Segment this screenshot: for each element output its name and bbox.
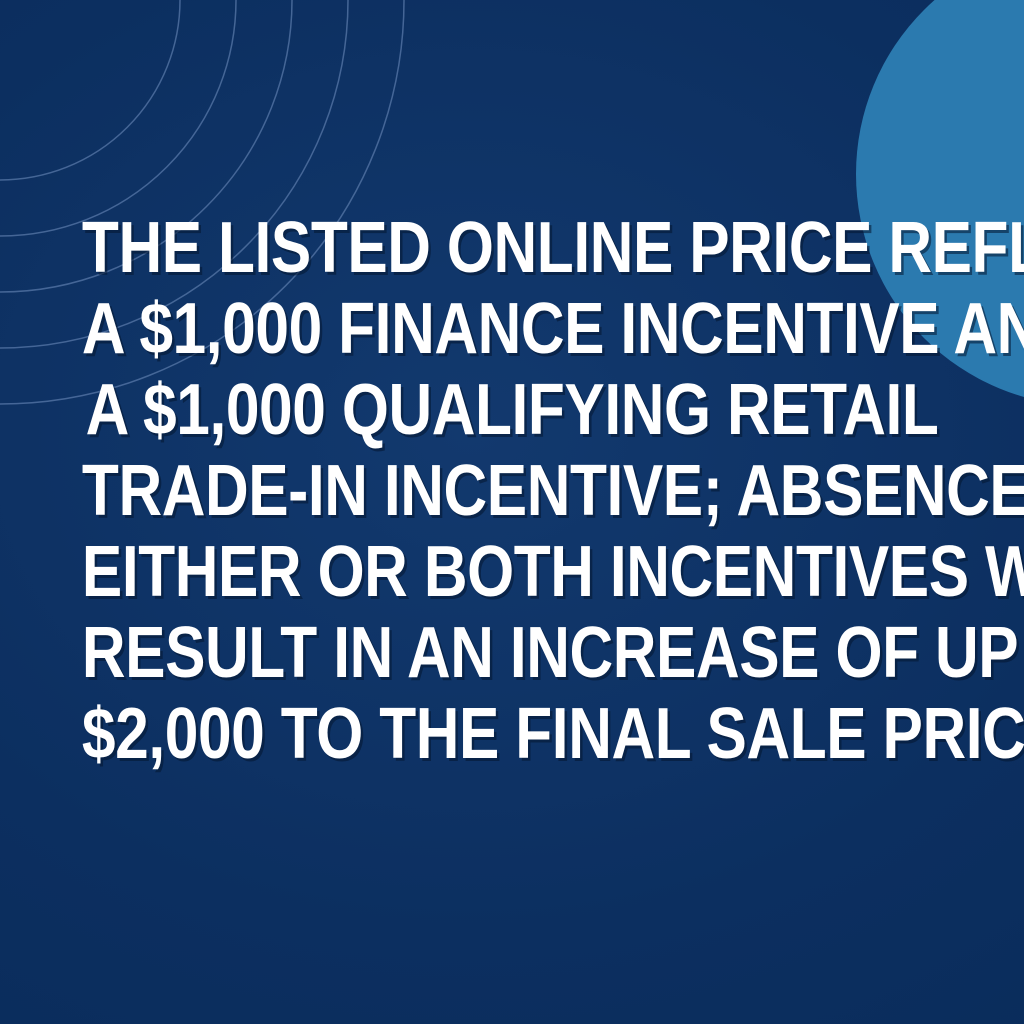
headline-line: RESULT IN AN INCREASE OF UP TO: [82, 613, 942, 694]
disclaimer-headline: THE LISTED ONLINE PRICE REFLECTS A $1,00…: [82, 208, 942, 775]
headline-line: TRADE-IN INCENTIVE; ABSENCE OF: [82, 451, 942, 532]
headline-line: $2,000 TO THE FINAL SALE PRICE.: [82, 694, 942, 775]
headline-line: THE LISTED ONLINE PRICE REFLECTS: [82, 208, 942, 289]
headline-line: A $1,000 QUALIFYING RETAIL: [82, 370, 942, 451]
headline-line: A $1,000 FINANCE INCENTIVE AND: [82, 289, 942, 370]
headline-line: EITHER OR BOTH INCENTIVES WILL: [82, 532, 942, 613]
disclaimer-graphic: THE LISTED ONLINE PRICE REFLECTS A $1,00…: [0, 0, 1024, 1024]
